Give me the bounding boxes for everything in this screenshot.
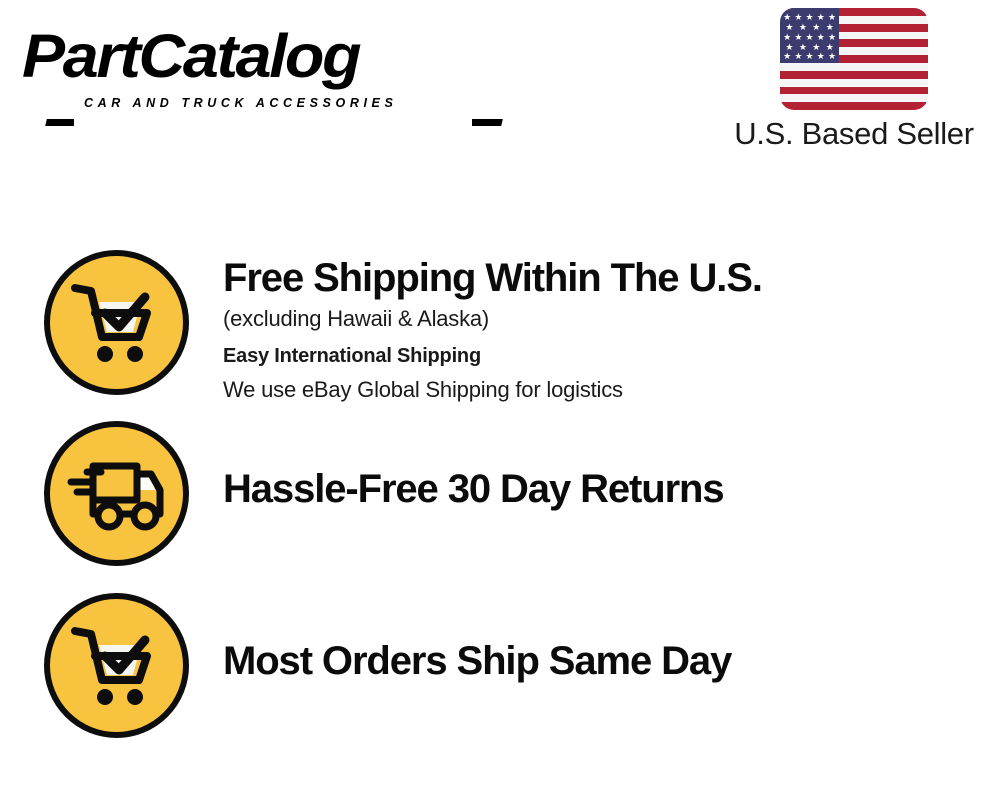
feature-item: Free Shipping Within The U.S. (excluding… [0, 250, 1000, 407]
feature-text-block: Free Shipping Within The U.S. (excluding… [189, 250, 1000, 407]
seller-badge: ★★★★★ ★★★★ ★★★★★ ★★★★ ★★★★★ U.S. Based S… [722, 8, 986, 152]
flag-star-row: ★★★★★ [780, 52, 839, 61]
brand-logo-underline-mask [74, 116, 472, 130]
delivery-truck-icon [44, 421, 189, 566]
feature-title: Most Orders Ship Same Day [223, 637, 1000, 685]
banner-header: PartCatalog CAR AND TRUCK ACCESSORIES [0, 0, 1000, 175]
us-flag-icon: ★★★★★ ★★★★ ★★★★★ ★★★★ ★★★★★ [780, 8, 928, 110]
flag-star-row: ★★★★ [780, 23, 839, 32]
promo-banner: PartCatalog CAR AND TRUCK ACCESSORIES [0, 0, 1000, 800]
feature-item: Most Orders Ship Same Day [0, 593, 1000, 738]
feature-title: Hassle-Free 30 Day Returns [223, 465, 1000, 513]
feature-text-block: Most Orders Ship Same Day [189, 593, 1000, 685]
feature-note: (excluding Hawaii & Alaska) [223, 302, 1000, 336]
shopping-cart-check-icon [44, 250, 189, 395]
brand-logo: PartCatalog CAR AND TRUCK ACCESSORIES [22, 24, 492, 116]
flag-star-row: ★★★★★ [780, 13, 839, 22]
flag-star-row: ★★★★★ [780, 33, 839, 42]
feature-text-block: Hassle-Free 30 Day Returns [189, 421, 1000, 513]
feature-item: Hassle-Free 30 Day Returns [0, 421, 1000, 566]
brand-tagline: CAR AND TRUCK ACCESSORIES [84, 96, 397, 110]
feature-sub-heading: Easy International Shipping [223, 340, 1000, 373]
feature-title: Free Shipping Within The U.S. [223, 254, 1000, 302]
feature-sub-text: We use eBay Global Shipping for logistic… [223, 373, 1000, 407]
seller-badge-label: U.S. Based Seller [722, 116, 986, 152]
shopping-cart-check-icon [44, 593, 189, 738]
brand-wordmark: PartCatalog [22, 24, 520, 88]
